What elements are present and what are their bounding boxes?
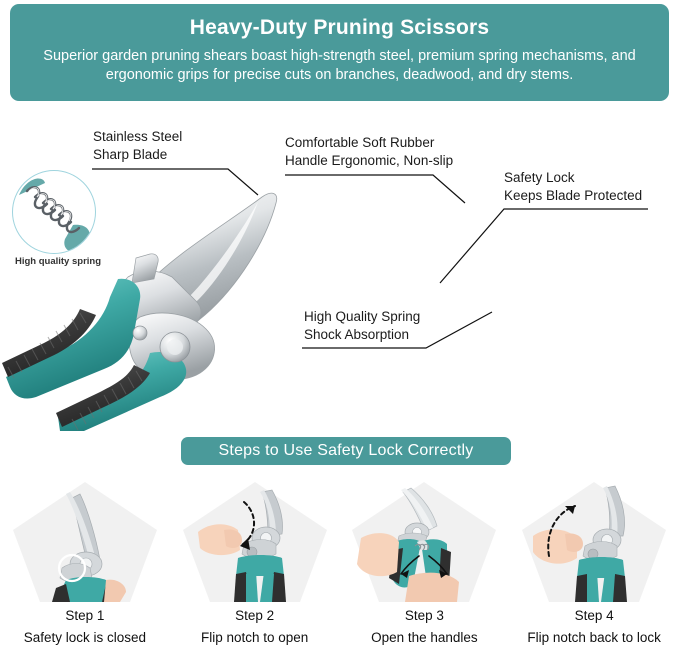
callout-safety-lock: Safety Lock Keeps Blade Protected [504,169,642,204]
callout-line2: Shock Absorption [304,326,420,344]
callout-stainless-steel: Stainless Steel Sharp Blade [93,128,182,163]
leader-line-stainless-steel [90,167,270,213]
left-shear-handles [2,279,186,431]
step-1-illustration [10,480,160,606]
steps-banner: Steps to Use Safety Lock Correctly [181,437,511,465]
step-item-4: Step 4 Flip notch back to lock [509,480,679,651]
spring-inset-caption: High quality spring [12,256,104,267]
callout-line1: Stainless Steel [93,129,182,144]
spring-icon [13,171,96,254]
left-shear-blade [142,193,277,337]
step-item-3: Step 3 Open the handles [340,480,510,651]
callout-high-quality-spring: High Quality Spring Shock Absorption [304,308,420,343]
hero-product-section: High quality spring Stainless Steel Shar… [0,101,679,431]
leader-line-high-quality-spring [300,346,500,392]
step-2-label: Step 2 [170,608,340,623]
header-subtitle: Superior garden pruning shears boast hig… [10,40,669,85]
step-4-label: Step 4 [509,608,679,623]
steps-row: Step 1 Safety lock is closed [0,480,679,651]
steps-banner-label: Steps to Use Safety Lock Correctly [219,442,474,460]
callout-soft-rubber: Comfortable Soft Rubber Handle Ergonomic… [285,134,453,169]
step-3-desc: Open the handles [340,630,510,645]
callout-line2: Keeps Blade Protected [504,187,642,205]
callout-line2: Handle Ergonomic, Non-slip [285,152,453,170]
step-2-illustration [180,480,330,606]
leader-line-safety-lock [430,207,650,307]
step-item-2: Step 2 Flip notch to open [170,480,340,651]
step-4-desc: Flip notch back to lock [509,630,679,645]
callout-line2: Sharp Blade [93,146,182,164]
page-title: Heavy-Duty Pruning Scissors [10,4,669,40]
step-4-illustration [519,480,669,606]
leader-line-soft-rubber [283,173,423,219]
step-1-desc: Safety lock is closed [0,630,170,645]
step-item-1: Step 1 Safety lock is closed [0,480,170,651]
callout-line1: High Quality Spring [304,309,420,324]
left-shear-joint-body [129,313,214,380]
callout-line1: Safety Lock [504,170,575,185]
spring-circle-frame [12,170,96,254]
step-1-label: Step 1 [0,608,170,623]
step-3-illustration [349,480,499,606]
step-2-desc: Flip notch to open [170,630,340,645]
left-pivot-bolt [160,332,190,362]
left-shear-anvil [122,254,201,338]
spring-detail-inset: High quality spring [12,170,96,254]
callout-line1: Comfortable Soft Rubber [285,135,434,150]
header-banner: Heavy-Duty Pruning Scissors Superior gar… [10,4,669,101]
step-3-label: Step 3 [340,608,510,623]
